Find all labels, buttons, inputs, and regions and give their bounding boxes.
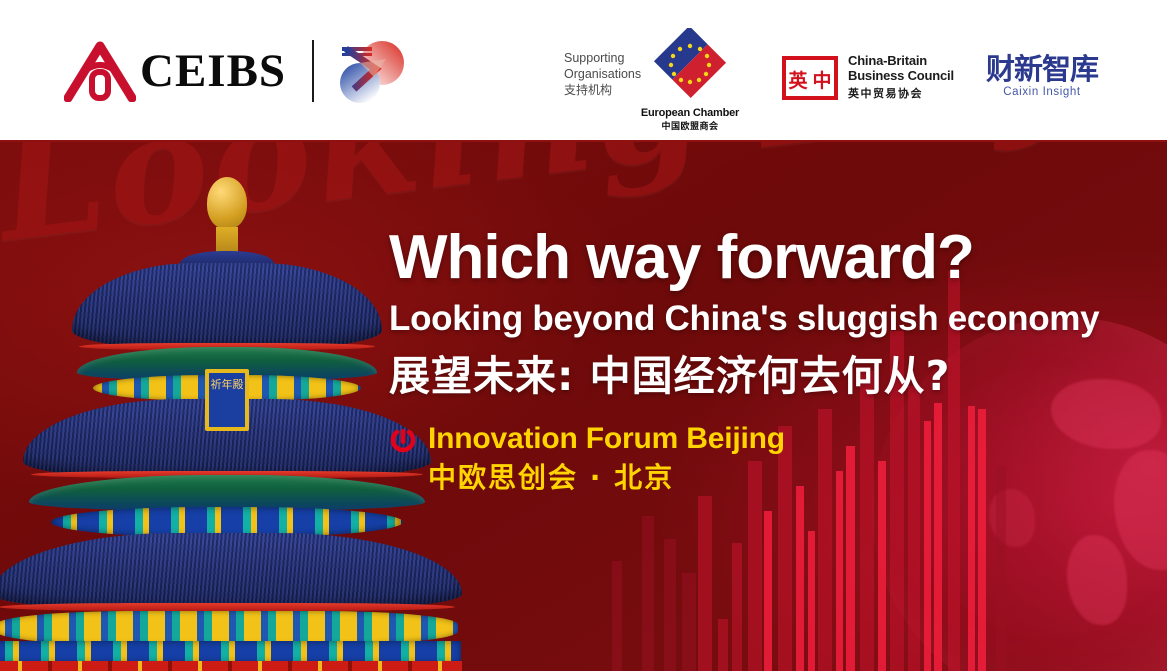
caixin-name-en: Caixin Insight (972, 86, 1112, 98)
hero-section: Looking Beyond (0, 142, 1167, 671)
ceibs-logo-lockup[interactable]: CEIBS (64, 38, 406, 104)
svg-text:英: 英 (788, 69, 808, 92)
cbbc-name-cn: 英中贸易协会 (848, 85, 954, 101)
header-logo-band: CEIBS (0, 0, 1167, 142)
partner-logo-european-chamber[interactable]: European Chamber 中国欧盟商会 (640, 28, 740, 132)
cbbc-name-line-1: China-Britain (848, 54, 954, 69)
ceibs-wordmark: CEIBS (140, 48, 286, 95)
logo-divider (312, 40, 314, 102)
hero-copy-block: Which way forward? Looking beyond China'… (389, 222, 1099, 495)
page-title: Which way forward? (389, 222, 1099, 294)
anniversary-30-logo (336, 37, 406, 105)
svg-text:中: 中 (812, 69, 831, 92)
event-name-en: Innovation Forum Beijing (428, 422, 785, 456)
poster-root: CEIBS (0, 0, 1167, 671)
lightbulb-power-icon (389, 425, 417, 453)
cbbc-seal-icon: 英 中 (782, 56, 838, 100)
european-chamber-name-en: European Chamber (640, 107, 740, 119)
page-subtitle: Looking beyond China's sluggish economy (389, 296, 1099, 342)
partner-logo-caixin-insight[interactable]: 财新智库 Caixin Insight (972, 54, 1112, 98)
caixin-name-cn: 财新智库 (972, 54, 1112, 85)
european-chamber-mark-icon (651, 87, 729, 104)
cbbc-name-line-2: Business Council (848, 69, 954, 84)
partner-logo-china-britain-business-council[interactable]: 英 中 China-Britain Business Council 英中贸易协… (782, 54, 954, 101)
header-divider-rule (0, 140, 1167, 142)
event-name-block: Innovation Forum Beijing 中欧思创会 · 北京 (389, 422, 1099, 495)
page-title-cn: 展望未来: 中国经济何去何从? (389, 348, 1099, 404)
event-name-cn: 中欧思创会 · 北京 (428, 461, 1099, 495)
temple-plaque: 祈年殿 (205, 369, 249, 431)
european-chamber-name-cn: 中国欧盟商会 (640, 119, 740, 132)
ceibs-house-mark-icon (64, 40, 136, 102)
